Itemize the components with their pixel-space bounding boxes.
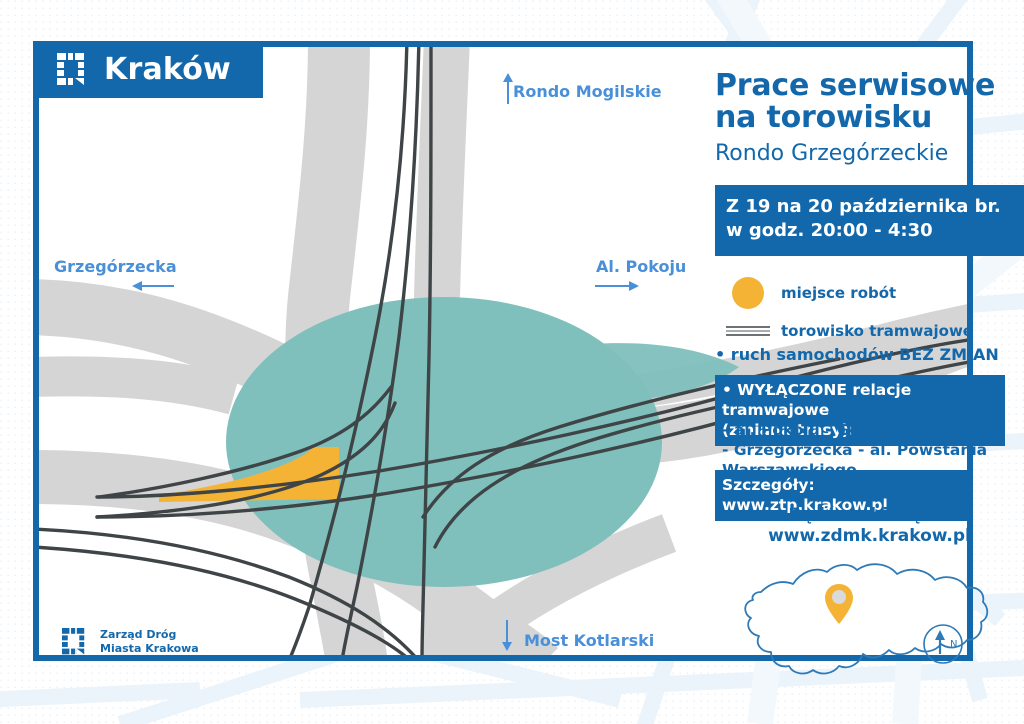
legend-label-tram-track: torowisko tramwajowe (781, 322, 973, 340)
agency-name-line2: Miasta Krakowa (100, 642, 199, 656)
city-locator-map: N (731, 552, 1011, 682)
note-cars-unchanged: • ruch samochodów BEZ ZMIAN (715, 345, 1024, 365)
info-panel: Prace serwisowe na torowisku Rondo Grzeg… (711, 0, 1024, 724)
date-line1: Z 19 na 20 października br. (726, 195, 1023, 219)
zdmk-grid-logo-icon (62, 628, 90, 656)
krakow-city-outline-icon (745, 564, 987, 673)
legend-item-works: miejsce robót (715, 274, 1024, 312)
date-banner: Z 19 na 20 października br. w godz. 20:0… (715, 185, 1024, 256)
krakow-wordmark: Kraków (104, 55, 231, 85)
krakow-grid-logo-icon (57, 53, 91, 87)
arrow-down-icon (499, 618, 515, 652)
arrow-right-icon (593, 278, 641, 294)
arrow-up-icon (500, 72, 516, 106)
panel-title-line1: Prace serwisowe (715, 70, 1024, 102)
compass-label: N (950, 639, 957, 650)
map-label-rondo-mogilskie: Rondo Mogilskie (513, 82, 662, 101)
closed-route-2: - Grzegórzecka - al. Powstania (722, 441, 1015, 461)
agency-name-line1: Zarząd Dróg (100, 628, 199, 642)
closed-route-1: - al. Pokoju - Grzegórzecka (722, 421, 1015, 441)
map-label-grzegorzecka: Grzegórzecka (54, 257, 177, 276)
infographic-root: Kraków Zarząd Dróg Miasta Krakowa Rond (0, 0, 1024, 724)
orange-circle-icon (715, 277, 781, 309)
panel-subtitle: Rondo Grzegórzeckie (715, 142, 1024, 166)
krakow-logo-badge: Kraków (33, 41, 263, 98)
arrow-left-icon (130, 278, 176, 294)
panel-title: Prace serwisowe na torowisku (715, 70, 1024, 135)
map-label-most-kotlarski: Most Kotlarski (524, 631, 654, 650)
closed-heading-line1: • WYŁĄCZONE relacje tramwajowe (722, 380, 997, 420)
stay-tuned: Bądź na bieżąco! www.zdmk.krakow.pl (715, 505, 1024, 548)
map-label-al-pokoju: Al. Pokoju (596, 257, 686, 276)
stay-tuned-website[interactable]: www.zdmk.krakow.pl (715, 526, 1024, 547)
legend: miejsce robót torowisko tramwajowe (715, 274, 1024, 350)
map-pin-icon (825, 584, 853, 624)
zdmk-logo: Zarząd Dróg Miasta Krakowa (62, 628, 199, 656)
stay-tuned-line1: Bądź na bieżąco! (715, 505, 1024, 526)
legend-label-works: miejsce robót (781, 284, 896, 302)
date-line2: w godz. 20:00 - 4:30 (726, 219, 1023, 243)
panel-title-line2: na torowisku (715, 102, 1024, 134)
compass-north-icon: N (924, 625, 962, 663)
tram-track-lines-icon (715, 323, 781, 339)
